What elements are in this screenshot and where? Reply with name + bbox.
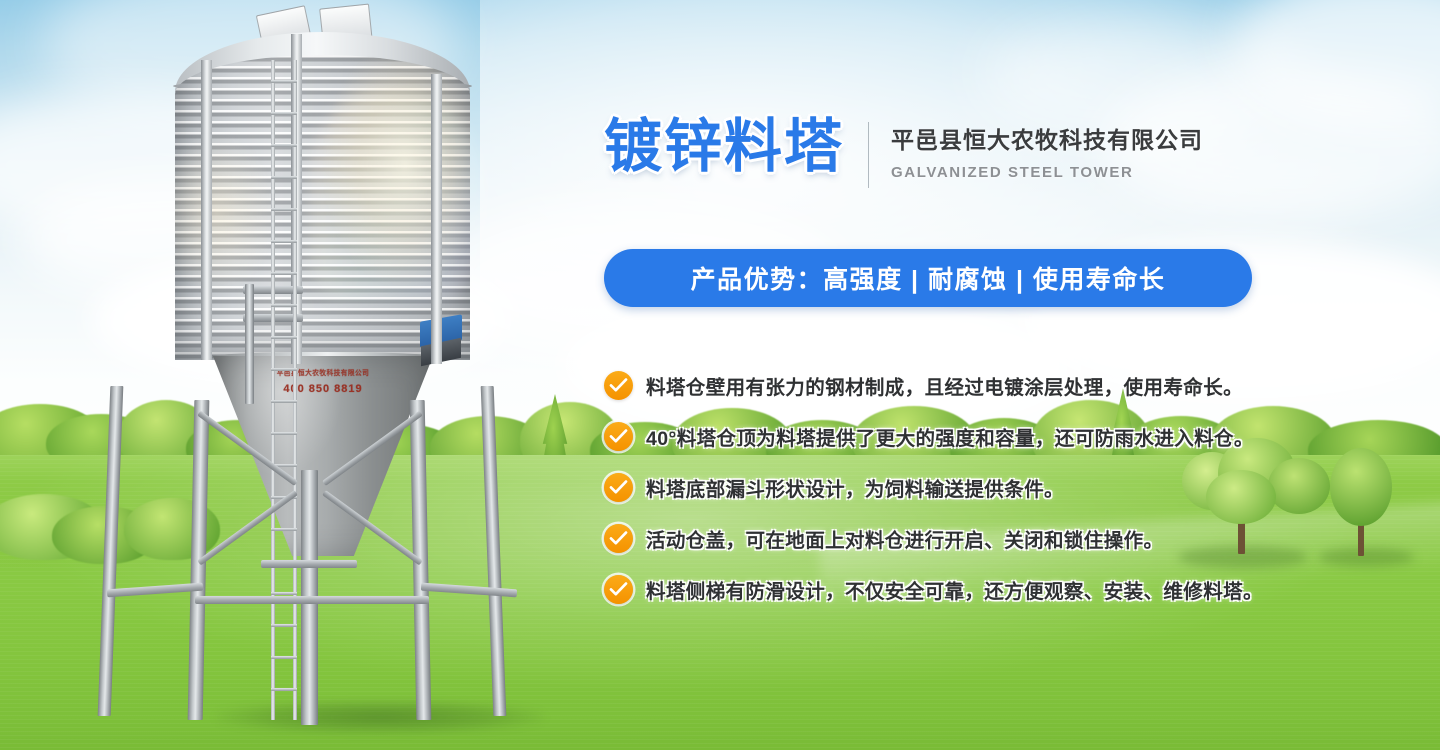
check-circle-icon bbox=[604, 371, 633, 400]
company-name-english: GALVANIZED STEEL TOWER bbox=[891, 164, 1203, 181]
silo-platform-post bbox=[245, 284, 254, 404]
silo-cross-bar-outer-left bbox=[107, 583, 203, 598]
advantage-pill: 产品优势：高强度 | 耐腐蚀 | 使用寿命长 bbox=[604, 249, 1252, 307]
silo-center-collar bbox=[261, 560, 357, 568]
silo-cross-bar-right bbox=[309, 596, 429, 604]
silo-side-column-left bbox=[201, 60, 212, 360]
feature-text: 料塔侧梯有防滑设计，不仅安全可靠，还方便观察、安装、维修料塔。 bbox=[646, 575, 1263, 604]
brand-block: 平邑县恒大农牧科技有限公司 GALVANIZED STEEL TOWER bbox=[891, 118, 1203, 181]
feature-text: 40°料塔仓顶为料塔提供了更大的强度和容量，还可防雨水进入料仓。 bbox=[646, 422, 1254, 451]
list-item: 料塔仓壁用有张力的钢材制成，且经过电镀涂层处理，使用寿命长。 bbox=[604, 360, 1304, 411]
silo-leg-far-left bbox=[98, 386, 124, 716]
list-item: 40°料塔仓顶为料塔提供了更大的强度和容量，还可防雨水进入料仓。 bbox=[604, 411, 1304, 462]
check-circle-icon bbox=[604, 473, 633, 502]
check-circle-icon bbox=[604, 524, 633, 553]
text-content-panel: 镀锌料塔 平邑县恒大农牧科技有限公司 GALVANIZED STEEL TOWE… bbox=[604, 0, 1304, 750]
title-divider bbox=[868, 122, 869, 188]
silo-side-column-right bbox=[431, 74, 442, 364]
list-item: 料塔底部漏斗形状设计，为饲料输送提供条件。 bbox=[604, 462, 1304, 513]
cone-phone-number: 400 850 8819 bbox=[233, 383, 413, 395]
cone-brand-text: 平邑县恒大农牧科技有限公司 bbox=[238, 368, 409, 378]
feature-list: 料塔仓壁用有张力的钢材制成，且经过电镀涂层处理，使用寿命长。 40°料塔仓顶为料… bbox=[604, 360, 1304, 615]
advantage-pill-label: 产品优势：高强度 | 耐腐蚀 | 使用寿命长 bbox=[691, 260, 1166, 296]
company-name: 平邑县恒大农牧科技有限公司 bbox=[891, 126, 1203, 155]
silo-access-ladder[interactable] bbox=[271, 60, 297, 720]
silo-cross-bar-left bbox=[195, 596, 315, 604]
silo-lens-flare bbox=[310, 90, 485, 300]
check-circle-icon bbox=[604, 422, 633, 451]
promo-banner: 平邑县恒大农牧科技有限公司 400 850 8819 bbox=[0, 0, 1440, 750]
page-title: 镀锌料塔 bbox=[604, 118, 844, 176]
feature-text: 料塔底部漏斗形状设计，为饲料输送提供条件。 bbox=[646, 473, 1064, 502]
galvanized-feed-silo-photo: 平邑县恒大农牧科技有限公司 400 850 8819 bbox=[95, 0, 515, 750]
silo-cone-branding: 平邑县恒大农牧科技有限公司 400 850 8819 bbox=[233, 368, 413, 395]
headline-row: 镀锌料塔 平邑县恒大农牧科技有限公司 GALVANIZED STEEL TOWE… bbox=[604, 118, 1203, 188]
feature-text: 活动仓盖，可在地面上对料仓进行开启、关闭和锁住操作。 bbox=[646, 524, 1163, 553]
list-item: 活动仓盖，可在地面上对料仓进行开启、关闭和锁住操作。 bbox=[604, 513, 1304, 564]
check-circle-icon bbox=[604, 575, 633, 604]
list-item: 料塔侧梯有防滑设计，不仅安全可靠，还方便观察、安装、维修料塔。 bbox=[604, 564, 1304, 615]
feature-text: 料塔仓壁用有张力的钢材制成，且经过电镀涂层处理，使用寿命长。 bbox=[646, 371, 1243, 400]
silo-leg-far-right bbox=[481, 386, 507, 716]
silo-cross-bar-outer-right bbox=[421, 583, 517, 598]
